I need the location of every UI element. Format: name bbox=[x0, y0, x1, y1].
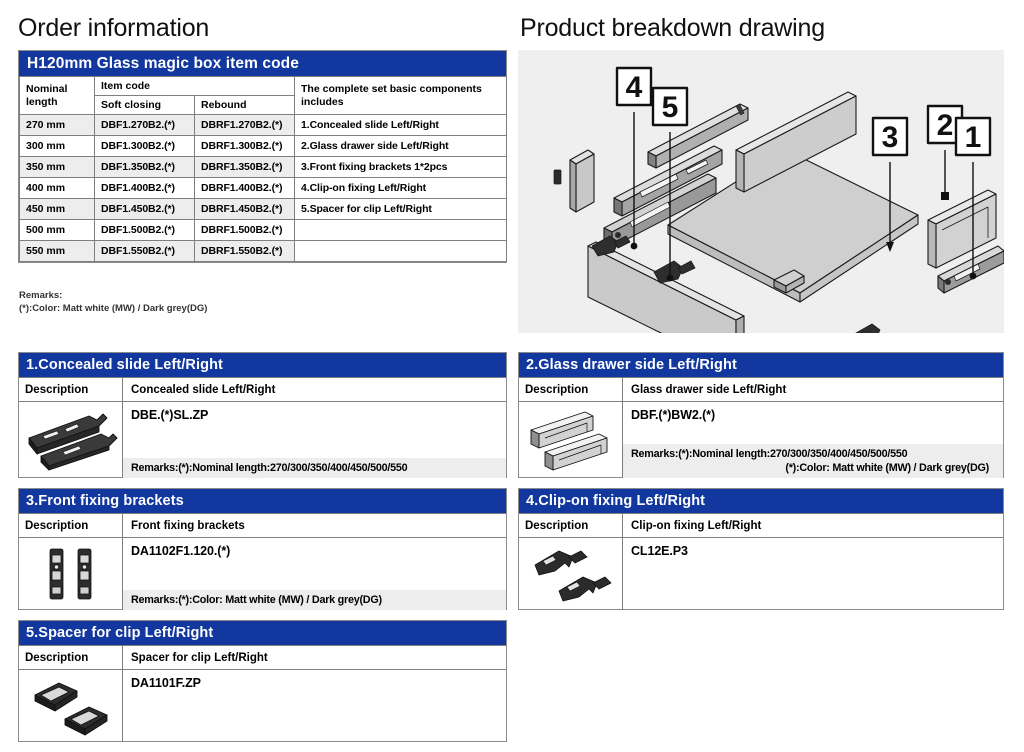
component-thumbnail-cell bbox=[519, 402, 623, 478]
callout-box-3: 3 bbox=[873, 118, 907, 155]
table-row: 500 mm DBF1.500B2.(*) DBRF1.500B2.(*) bbox=[20, 220, 507, 241]
component-remark: Remarks:(*):Nominal length:270/300/350/4… bbox=[123, 458, 506, 478]
cell-rebound: DBRF1.400B2.(*) bbox=[195, 178, 295, 199]
component-banner: 5.Spacer for clip Left/Right bbox=[19, 621, 506, 645]
cell-rebound: DBRF1.550B2.(*) bbox=[195, 241, 295, 262]
left-vertical-bracket-strip bbox=[570, 150, 594, 212]
header-rebound: Rebound bbox=[195, 96, 295, 115]
cell-rebound: DBRF1.450B2.(*) bbox=[195, 199, 295, 220]
component-thumbnail-cell bbox=[519, 538, 623, 610]
header-soft-closing: Soft closing bbox=[95, 96, 195, 115]
component-remark-block: Remarks:(*):Nominal length:270/300/350/4… bbox=[623, 444, 1003, 478]
header-complete-set: The complete set basic components includ… bbox=[295, 77, 507, 115]
component-remark-secondary: (*):Color: Matt white (MW) / Dark grey(D… bbox=[631, 461, 995, 475]
cell-nominal-length: 300 mm bbox=[20, 136, 95, 157]
cell-complete-set-item bbox=[295, 241, 507, 262]
component-panel-concealed-slide: 1.Concealed slide Left/Right Description… bbox=[18, 352, 507, 478]
cell-complete-set-item bbox=[295, 220, 507, 241]
table-row: 400 mm DBF1.400B2.(*) DBRF1.400B2.(*) 4.… bbox=[20, 178, 507, 199]
component-remark: Remarks:(*):Nominal length:270/300/350/4… bbox=[631, 448, 907, 460]
cell-soft-closing: DBF1.450B2.(*) bbox=[95, 199, 195, 220]
table-header-row-1: Nominal length Item code The complete se… bbox=[20, 77, 507, 96]
component-banner: 1.Concealed slide Left/Right bbox=[19, 353, 506, 377]
cell-complete-set-item: 3.Front fixing brackets 1*2pcs bbox=[295, 157, 507, 178]
callout-label-5: 5 bbox=[662, 91, 679, 124]
table-row: 350 mm DBF1.350B2.(*) DBRF1.350B2.(*) 3.… bbox=[20, 157, 507, 178]
cell-complete-set-item: 1.Concealed slide Left/Right bbox=[295, 115, 507, 136]
callout-3-anchor bbox=[886, 242, 894, 252]
component-banner: 3.Front fixing brackets bbox=[19, 489, 506, 513]
component-thumbnail-cell bbox=[19, 402, 123, 478]
description-value: Glass drawer side Left/Right bbox=[623, 378, 1003, 401]
clip-on-fixing-part-mid bbox=[654, 261, 695, 283]
description-label: Description bbox=[19, 378, 123, 401]
description-label: Description bbox=[19, 646, 123, 669]
callout-box-5: 5 bbox=[653, 88, 687, 125]
glass-drawer-side-icon bbox=[523, 408, 619, 472]
clip-on-fixing-part-right bbox=[856, 324, 880, 333]
cell-rebound: DBRF1.350B2.(*) bbox=[195, 157, 295, 178]
description-value: Front fixing brackets bbox=[123, 514, 506, 537]
component-panel-clip-on-fixing: 4.Clip-on fixing Left/Right Description … bbox=[518, 488, 1004, 610]
front-fixing-bracket-icon bbox=[36, 543, 106, 605]
cell-complete-set-item: 4.Clip-on fixing Left/Right bbox=[295, 178, 507, 199]
component-panel-front-fixing-brackets: 3.Front fixing brackets Description Fron… bbox=[18, 488, 507, 610]
cell-soft-closing: DBF1.550B2.(*) bbox=[95, 241, 195, 262]
cell-soft-closing: DBF1.300B2.(*) bbox=[95, 136, 195, 157]
cell-soft-closing: DBF1.350B2.(*) bbox=[95, 157, 195, 178]
clip-on-fixing-part-left bbox=[592, 236, 630, 256]
remarks-label: Remarks: bbox=[19, 290, 207, 303]
small-clip-marker bbox=[554, 170, 561, 184]
product-breakdown-drawing-panel: 4 5 3 2 1 bbox=[518, 50, 1004, 333]
component-code: DBE.(*)SL.ZP bbox=[123, 402, 506, 422]
component-panel-glass-drawer-side: 2.Glass drawer side Left/Right Descripti… bbox=[518, 352, 1004, 478]
description-value: Concealed slide Left/Right bbox=[123, 378, 506, 401]
clip-on-fixing-icon bbox=[525, 543, 617, 605]
callout-5-anchor bbox=[667, 275, 674, 282]
component-code: CL12E.P3 bbox=[623, 538, 1003, 558]
table-row: 270 mm DBF1.270B2.(*) DBRF1.270B2.(*) 1.… bbox=[20, 115, 507, 136]
exploded-assembly-diagram: 4 5 3 2 1 bbox=[518, 50, 1004, 333]
order-information-table: H120mm Glass magic box item code Nominal… bbox=[18, 50, 507, 263]
description-label: Description bbox=[519, 378, 623, 401]
component-banner: 4.Clip-on fixing Left/Right bbox=[519, 489, 1003, 513]
description-value: Clip-on fixing Left/Right bbox=[623, 514, 1003, 537]
cell-rebound: DBRF1.300B2.(*) bbox=[195, 136, 295, 157]
description-label: Description bbox=[519, 514, 623, 537]
component-thumbnail-cell bbox=[19, 670, 123, 742]
table-row: 550 mm DBF1.550B2.(*) DBRF1.550B2.(*) bbox=[20, 241, 507, 262]
cell-nominal-length: 550 mm bbox=[20, 241, 95, 262]
cell-nominal-length: 270 mm bbox=[20, 115, 95, 136]
callout-label-2: 2 bbox=[937, 109, 954, 142]
callout-1-anchor bbox=[970, 273, 977, 280]
component-thumbnail-cell bbox=[19, 538, 123, 610]
description-value: Spacer for clip Left/Right bbox=[123, 646, 506, 669]
component-code: DBF.(*)BW2.(*) bbox=[623, 402, 1003, 422]
page-title-product-breakdown-drawing: Product breakdown drawing bbox=[520, 14, 825, 43]
cell-nominal-length: 400 mm bbox=[20, 178, 95, 199]
page-title-order-information: Order information bbox=[18, 14, 209, 43]
callout-box-4: 4 bbox=[617, 68, 651, 105]
component-panel-spacer-for-clip: 5.Spacer for clip Left/Right Description… bbox=[18, 620, 507, 742]
header-item-code: Item code bbox=[95, 77, 295, 96]
cell-complete-set-item: 2.Glass drawer side Left/Right bbox=[295, 136, 507, 157]
cell-rebound: DBRF1.500B2.(*) bbox=[195, 220, 295, 241]
cell-nominal-length: 500 mm bbox=[20, 220, 95, 241]
callout-label-1: 1 bbox=[965, 121, 982, 154]
cell-soft-closing: DBF1.500B2.(*) bbox=[95, 220, 195, 241]
component-code: DA1102F1.120.(*) bbox=[123, 538, 506, 558]
item-code-grid: Nominal length Item code The complete se… bbox=[19, 76, 507, 262]
spacer-for-clip-icon bbox=[25, 675, 117, 737]
component-banner: 2.Glass drawer side Left/Right bbox=[519, 353, 1003, 377]
callout-2-anchor bbox=[941, 192, 949, 200]
description-label: Description bbox=[19, 514, 123, 537]
cell-nominal-length: 450 mm bbox=[20, 199, 95, 220]
callout-4-anchor bbox=[631, 243, 638, 250]
cell-soft-closing: DBF1.270B2.(*) bbox=[95, 115, 195, 136]
component-code: DA1101F.ZP bbox=[123, 670, 506, 690]
callout-label-3: 3 bbox=[882, 121, 899, 154]
table-row: 300 mm DBF1.300B2.(*) DBRF1.300B2.(*) 2.… bbox=[20, 136, 507, 157]
cell-soft-closing: DBF1.400B2.(*) bbox=[95, 178, 195, 199]
callout-label-4: 4 bbox=[626, 71, 643, 104]
cell-rebound: DBRF1.270B2.(*) bbox=[195, 115, 295, 136]
table-row: 450 mm DBF1.450B2.(*) DBRF1.450B2.(*) 5.… bbox=[20, 199, 507, 220]
callout-box-1: 1 bbox=[956, 118, 990, 155]
header-nominal-length: Nominal length bbox=[20, 77, 95, 115]
cell-complete-set-item: 5.Spacer for clip Left/Right bbox=[295, 199, 507, 220]
component-remark: Remarks:(*):Color: Matt white (MW) / Dar… bbox=[123, 590, 506, 610]
order-table-remarks: Remarks: (*):Color: Matt white (MW) / Da… bbox=[19, 290, 207, 315]
cell-nominal-length: 350 mm bbox=[20, 157, 95, 178]
remarks-text: (*):Color: Matt white (MW) / Dark grey(D… bbox=[19, 303, 207, 316]
order-table-banner: H120mm Glass magic box item code bbox=[19, 51, 506, 76]
concealed-slide-icon bbox=[23, 408, 119, 472]
